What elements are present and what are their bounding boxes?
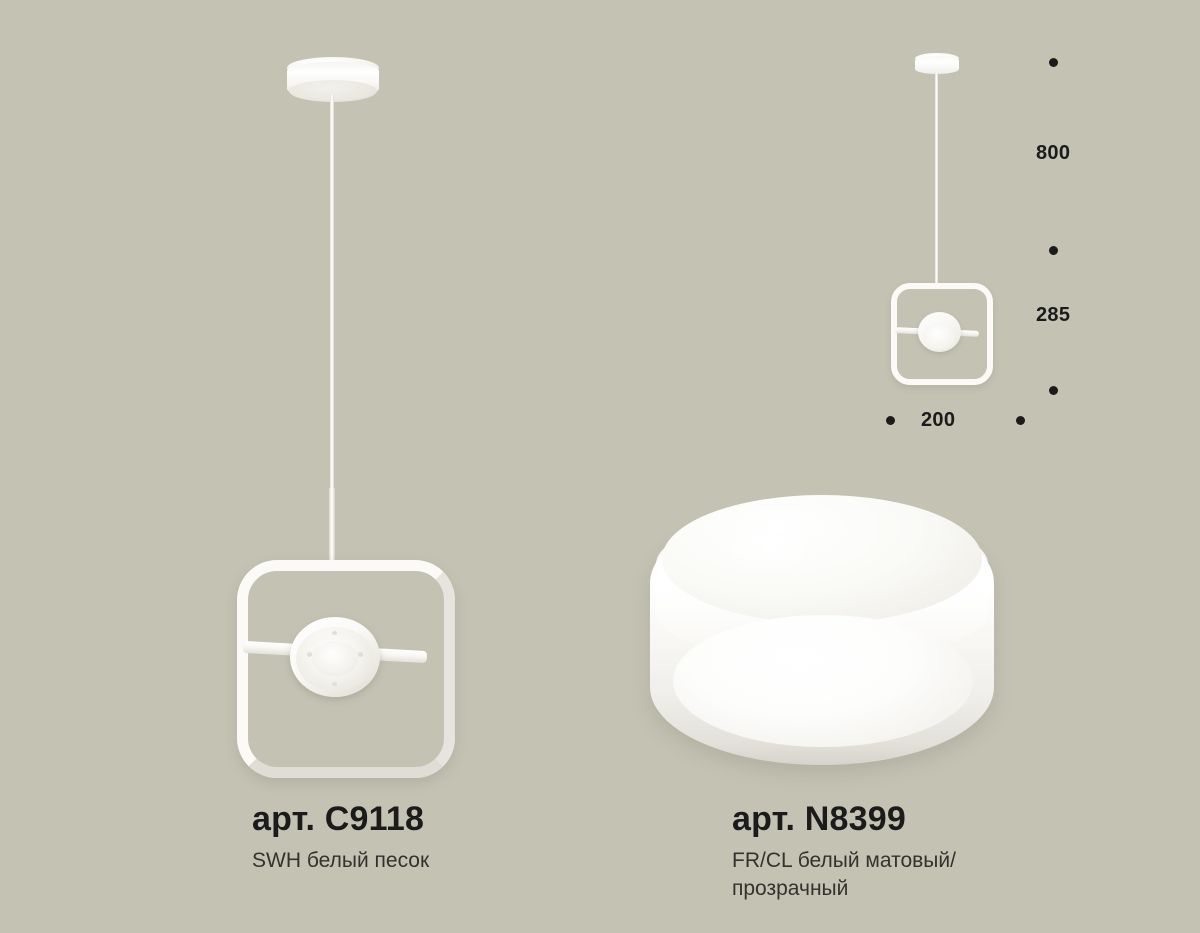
dimension-dot-middle: [1049, 246, 1058, 255]
dimension-annotations: 800 285 200: [0, 0, 1200, 933]
dimension-dot-width-right: [1016, 416, 1025, 425]
dimension-dot-top: [1049, 58, 1058, 67]
product-spec-sheet: арт. C9118 SWH белый песок арт. N8399 FR…: [0, 0, 1200, 933]
dimension-dot-bottom: [1049, 386, 1058, 395]
dimension-label-fixture-width: 200: [921, 409, 955, 432]
dimension-dot-width-left: [886, 416, 895, 425]
dimension-label-total-height: 800: [1036, 142, 1070, 165]
dimension-label-fixture-height: 285: [1036, 304, 1070, 327]
